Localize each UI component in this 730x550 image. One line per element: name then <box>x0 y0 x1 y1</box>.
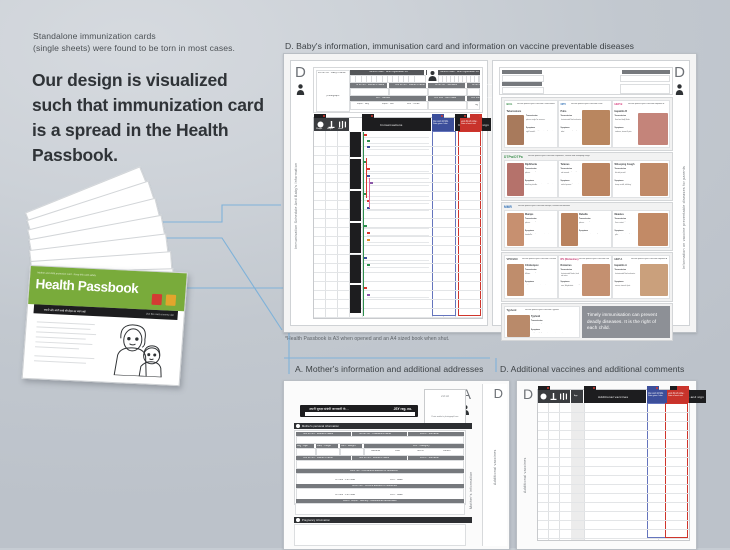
transmission-label: Transmission <box>579 218 591 220</box>
next-visit-header: अगले टीके की तारीख · Date of next visit <box>460 118 482 131</box>
table-row[interactable] <box>538 538 689 539</box>
table-row[interactable] <box>538 457 689 458</box>
page-marker-d-partial: D <box>494 387 503 400</box>
mother-information-panel: A Mother's information D Additional vacc… <box>283 380 510 550</box>
birth-date-label: जन्म तिथि · Birth date <box>434 97 456 100</box>
field-label-identity: आधार / मतदाता · Identity / Institutional… <box>343 500 397 503</box>
cover-text-line <box>36 326 90 330</box>
vaccine-note-hepa: vaccine protects your child from Hepatit… <box>631 258 667 260</box>
symptoms-label: Symptoms <box>615 281 624 283</box>
field-label-age: आयु · Age <box>297 445 308 448</box>
birth-registration-label: पंजीकरण संख्या · Birth registration no. <box>369 71 408 74</box>
table-row[interactable] <box>314 236 482 237</box>
transmission-label: Transmission <box>615 269 627 271</box>
disease-name-chickenpox: Chickenpox <box>525 264 539 267</box>
gender-option-other[interactable]: अन्य · Other <box>407 103 420 106</box>
mother-and-child-illustration <box>104 321 174 378</box>
mother-panel-next-label: Additional vaccines <box>493 415 497 485</box>
surname2-label: घर का नाम · Surname <box>472 84 494 87</box>
age-group-block <box>350 159 361 189</box>
transmission-text: Spreads through contaminated food and wa… <box>561 118 582 125</box>
symptoms-text: High fever, rash, cough, red eyes. <box>615 233 635 242</box>
vaccine-card-hepb: HEP B vaccine protects your child from H… <box>612 100 670 148</box>
right-page-vertical-label: Information on vaccine preventable disea… <box>682 99 686 269</box>
vaccine-card-typhoid: Typhoid vaccine protects your child from… <box>504 306 580 338</box>
vaccine-code-dtp: DTPw/DTPa <box>504 155 523 159</box>
table-row[interactable] <box>538 484 689 485</box>
additional-vaccines-panel: D Additional vaccines Age Additional vac… <box>516 380 697 550</box>
baby-name-field[interactable] <box>316 70 350 112</box>
disease-name-mumps: Mumps <box>525 213 533 216</box>
section-header-personal: Mother's personal information <box>294 423 472 429</box>
caption-additional-panel: D. Additional vaccines and additional co… <box>500 364 684 374</box>
vaccine-entry[interactable] <box>367 174 429 179</box>
category-option-scst[interactable]: SC/ST <box>417 450 424 453</box>
disease-name-tetanus: Tetanus <box>561 163 570 166</box>
additional-vaccines-header-label: Additional vaccines <box>598 395 628 399</box>
vaccine-code-rv: RV (Rotavirus) <box>561 258 579 261</box>
table-row[interactable] <box>314 308 482 309</box>
name-band-input[interactable] <box>305 412 415 416</box>
transmission-text: Spreads through air and close contact. <box>615 221 635 228</box>
section-tab-flag <box>314 114 326 118</box>
disease-photo <box>582 163 610 196</box>
symptoms-label: Symptoms <box>531 329 540 331</box>
field-input[interactable] <box>296 436 464 444</box>
vaccine-note-opv: vaccine protects your child from Polio <box>571 103 609 105</box>
immunisation-schedule-table: Weight Height Head Immunisations टीका लग… <box>313 117 483 319</box>
transmission-label: Transmission <box>561 269 573 271</box>
section-header-pregnancy: Pregnancy information <box>294 517 472 523</box>
field-label-father-name: पिता का नाम · Father's name <box>303 457 333 460</box>
section-tab-flag <box>362 114 374 118</box>
symptoms-text: Sore throat, weakness, swollen glands, b… <box>525 183 555 192</box>
vaccine-entry[interactable] <box>364 192 429 197</box>
page-marker-d-additional: D <box>523 387 533 401</box>
mother-name-band-en: JSY reg. no. <box>394 407 412 411</box>
weight-icon <box>317 121 324 128</box>
top-form-header <box>622 70 670 74</box>
logo-health-ministry-icon <box>165 294 176 305</box>
table-row[interactable] <box>538 529 689 530</box>
transmission-label: Transmission <box>531 320 543 322</box>
pin-label-2: पिन कोड · Pin code <box>335 494 355 497</box>
immunisations-header: Immunisations <box>362 118 431 131</box>
table-row[interactable] <box>538 475 689 476</box>
head-column-label: Head <box>338 128 343 130</box>
vaccine-card-tetanus: Tetanus Transmission Enters the body thr… <box>558 160 612 198</box>
date-given-header: टीका लगाने की तिथि · Date given / due <box>647 390 669 403</box>
surname-label: घर का नाम · Surname <box>435 84 457 87</box>
additional-panel-vertical-label: Additional vaccines <box>523 413 527 493</box>
field-label-category: श्रेणी · Category <box>413 445 430 448</box>
state-label: राज्य · State <box>390 479 403 482</box>
top-form-header <box>502 70 542 74</box>
vaccine-card-rotavirus: RV (Rotavirus) vaccine protects your chi… <box>558 255 612 299</box>
field-label-mother-name-2: माता का नाम · Mother's name <box>359 457 389 460</box>
mother-name-band: अपनी सुरक्षा संबंधी जानकारी के ... JSY r… <box>300 405 418 417</box>
category-option-others[interactable]: Others <box>443 450 451 453</box>
intro-subtext-line2: (single sheets) were found to be torn in… <box>33 43 278 55</box>
transmission-label: Transmission <box>525 269 537 271</box>
transmission-text: Spreads through saliva of an infected pe… <box>525 221 555 228</box>
age-column-header: Age <box>571 390 583 403</box>
vaccine-card-measles: Measles Transmission Spreads through air… <box>612 210 670 248</box>
disease-photo <box>582 110 610 145</box>
top-form-field[interactable] <box>620 84 670 94</box>
vaccine-entry[interactable] <box>364 133 429 138</box>
table-row[interactable] <box>314 281 482 282</box>
symptoms-label: Symptoms <box>561 281 570 283</box>
transmission-label: Transmission <box>561 168 573 170</box>
transmission-text: Enters the body through cuts and wounds. <box>561 171 582 178</box>
vaccine-code-hepb: HEP B <box>615 103 623 106</box>
section-tab-flag <box>470 114 482 118</box>
section-tab-flag <box>647 386 659 390</box>
book-cover: Mother and child protection card · Keep … <box>22 265 188 386</box>
vaccine-card-rubella: Rubella Transmission Spreads through air… <box>558 210 612 248</box>
vaccine-entry[interactable] <box>364 286 429 291</box>
category-option-obc[interactable]: OBC <box>395 450 400 453</box>
pregnancy-form-area[interactable] <box>294 524 466 546</box>
symptoms-label: Symptoms <box>561 180 570 182</box>
surname-input[interactable] <box>428 88 467 96</box>
field-label-height: लंबाई · Height <box>317 445 331 448</box>
transmission-text: Spreads through air and contact with bli… <box>525 272 555 279</box>
field-label-weight: वजन · Weight <box>341 445 356 448</box>
transmission-label: Transmission <box>526 115 538 117</box>
vaccine-code-hepa: HEP A <box>615 258 623 261</box>
transmission-label: Transmission <box>615 218 627 220</box>
age-group-block <box>350 223 361 253</box>
head-circumference-icon <box>339 121 346 128</box>
disease-name-hepatitis-b: Hepatitis B <box>615 110 628 113</box>
birth-weight-unit: kg <box>475 104 478 107</box>
intro-subtext-line1: Standalone immunization cards <box>33 31 278 43</box>
section-tab-flag <box>677 386 689 390</box>
cover-text-line <box>37 321 95 325</box>
additional-vaccines-header: Additional vaccines <box>584 390 646 403</box>
cover-text-line <box>34 360 86 363</box>
caption-top-spread: D. Baby's information, immunisation card… <box>285 41 634 51</box>
transmission-label: Transmission <box>525 168 537 170</box>
symptoms-text: Rash, mild fever, swollen glands. <box>579 233 609 242</box>
disease-photo <box>507 264 524 296</box>
transmission-text: Spreads through air from an infected per… <box>579 221 609 228</box>
disease-name-measles: Measles <box>615 213 624 216</box>
mother-photo-hint-hi: माँ की फोटो <box>425 396 465 399</box>
next-visit-column[interactable] <box>665 403 688 538</box>
height-icon <box>328 121 335 128</box>
field-label-surname-2: उपनाम · Surname <box>420 457 439 460</box>
disease-photo <box>640 264 668 296</box>
section-bullet <box>296 518 300 522</box>
cover-text-line <box>35 346 79 349</box>
vaccine-entry[interactable] <box>364 224 429 229</box>
mother-name-input[interactable] <box>350 88 389 96</box>
top-form-field[interactable] <box>502 75 544 82</box>
field-label-surname: उपनाम · Surname <box>420 433 439 436</box>
transmission-text: Spreads through contaminated food and wa… <box>615 272 636 279</box>
symptoms-label: Symptoms <box>525 281 534 283</box>
transmission-text: Spreads through air from an infected per… <box>525 171 555 178</box>
transmission-text: Spreads through contaminated hands, food… <box>561 272 582 279</box>
date-given-header-label: टीका लगाने की तिथि · Date given / due <box>433 121 453 126</box>
section-tab-flag <box>538 386 550 390</box>
vaccine-entry[interactable] <box>370 181 429 186</box>
mother-personal-form: माता का नाम · Mother's name पति का नाम ·… <box>294 430 466 505</box>
field-label-permanent-address: स्थायी पता · Permanent address of reside… <box>350 470 398 473</box>
transmission-label: Transmission <box>615 115 627 117</box>
vaccine-note-vpo: vaccine protects your child from Chicken… <box>522 258 556 260</box>
next-visit-header-label: अगले टीके की तारीख · Date of next visit <box>668 393 688 398</box>
field-input-age[interactable] <box>296 448 316 456</box>
vaccine-group-row: VPO/VAC vaccine protects your child from… <box>501 252 673 302</box>
vaccine-code-vpo: VPO/VAC <box>507 258 518 261</box>
table-row[interactable] <box>538 448 689 449</box>
section-tab-flag <box>584 386 596 390</box>
vaccine-note-bcg: vaccine protects your child from Tubercu… <box>517 103 555 105</box>
height-column-label: Height <box>327 128 333 130</box>
vaccine-entry[interactable] <box>367 238 429 243</box>
vaccine-note-rv: vaccine protects your child from Rotavir… <box>579 258 609 260</box>
gender-option-girl[interactable]: लड़की · Girl <box>382 103 394 106</box>
vaccine-entry[interactable] <box>367 206 429 211</box>
gender-option-boy[interactable]: लड़का · Boy <box>357 103 369 106</box>
right-page-top-form <box>499 67 673 95</box>
symptoms-label: Symptoms <box>615 230 624 232</box>
table-row[interactable] <box>538 439 689 440</box>
disease-photo <box>507 315 530 337</box>
disease-name-polio: Polio <box>561 110 567 113</box>
vaccine-card-whooping-cough: Whooping Cough Transmission Spreads thro… <box>612 160 670 198</box>
mother-name-label: माँ का नाम · Mother's name <box>356 84 384 87</box>
disease-photo <box>638 213 668 246</box>
table-row[interactable] <box>538 430 689 431</box>
disease-photo <box>507 163 524 196</box>
vaccine-entry[interactable] <box>367 199 429 204</box>
vaccine-entry[interactable] <box>367 145 429 150</box>
field-label-husband-name: पति का नाम · Husband's name <box>359 433 391 436</box>
field-input-weight[interactable] <box>340 448 364 456</box>
photo-hint-text: photograph <box>320 95 346 98</box>
age-group-block <box>350 191 361 221</box>
symptoms-label: Symptoms <box>525 180 534 182</box>
vaccine-rail <box>363 132 364 316</box>
measurement-columns-header: Weight Height Head <box>314 118 349 131</box>
height-icon <box>550 393 557 400</box>
symptoms-text: Muscle stiffness, jaw lock, painful spas… <box>561 183 582 192</box>
table-row[interactable] <box>314 254 482 255</box>
symptoms-label: Symptoms <box>526 127 535 129</box>
logo-government-icon <box>151 294 162 305</box>
table-row[interactable] <box>314 317 482 318</box>
head-circumference-icon <box>560 393 567 400</box>
next-visit-header: अगले टीके की तारीख · Date of next visit <box>667 390 689 403</box>
symptoms-text: Severe coughing spells, whoop sound, vom… <box>615 183 636 192</box>
birth-weight-input[interactable] <box>467 101 480 110</box>
cover-body <box>29 315 177 380</box>
vaccine-entry[interactable] <box>367 263 429 268</box>
table-row[interactable] <box>538 412 689 413</box>
vaccine-preventable-diseases: BCG vaccine protects your child from Tub… <box>501 97 673 319</box>
table-row[interactable] <box>538 511 689 512</box>
cover-text-line <box>34 355 94 359</box>
table-row[interactable] <box>314 299 482 300</box>
transmission-text: Spreads through infected blood and body … <box>615 118 636 125</box>
vaccine-code-opv: OPV <box>561 103 566 106</box>
vaccine-entry[interactable] <box>367 139 429 144</box>
vaccine-note-hepb: vaccine protects your child from Hepatit… <box>628 103 668 105</box>
disease-photo <box>640 163 668 196</box>
top-form-header <box>502 82 542 86</box>
disease-photo <box>582 264 610 296</box>
category-option-general[interactable]: General <box>371 450 380 453</box>
spread-left-page: D Immunisation Schedule And Baby's Infor… <box>290 60 488 326</box>
father-name-input[interactable] <box>389 88 428 96</box>
vaccine-group-typhoid: Typhoid vaccine protects your child from… <box>501 303 673 341</box>
vaccine-code-bcg: BCG <box>507 103 513 106</box>
vaccine-entry[interactable] <box>367 293 429 298</box>
disease-name-typhoid: Typhoid <box>531 315 540 318</box>
birth-date-input[interactable] <box>428 101 467 110</box>
table-row[interactable] <box>314 218 482 219</box>
vaccine-entry[interactable] <box>367 231 429 236</box>
state-label-2: राज्य · State <box>390 494 403 497</box>
symptoms-label: Symptoms <box>561 127 570 129</box>
weight-icon <box>540 393 547 400</box>
disease-name-diphtheria: Diphtheria <box>525 163 537 166</box>
symptoms-label: Symptoms <box>579 230 588 232</box>
symptoms-text: Itchy rash with blisters, fever, tiredne… <box>525 284 555 293</box>
intro-headline: Our design is visualized such that immun… <box>32 68 272 168</box>
vaccine-card-diphtheria: Diphtheria Transmission Spreads through … <box>504 160 558 198</box>
symptoms-text: Watery diarrhoea, vomiting, fever, dehyd… <box>561 284 582 293</box>
table-row[interactable] <box>538 466 689 467</box>
surname2-input[interactable] <box>467 88 480 96</box>
table-row[interactable] <box>314 272 482 273</box>
top-form-field[interactable] <box>502 87 544 94</box>
table-row[interactable] <box>538 421 689 422</box>
mother-name-band-hi: अपनी सुरक्षा संबंधी जानकारी के ... <box>309 407 349 411</box>
vaccine-rail <box>366 158 367 198</box>
section-title-personal: Mother's personal information <box>302 425 339 428</box>
section-title-pregnancy: Pregnancy information <box>302 519 330 522</box>
transmission-text: Spreads through contaminated food and wa… <box>531 323 576 328</box>
vaccine-entry[interactable] <box>364 256 429 261</box>
symptoms-label: Symptoms <box>525 230 534 232</box>
spread-right-page: D Information on vaccine preventable dis… <box>492 60 690 326</box>
vaccine-code-mmr: MMR <box>504 205 512 209</box>
field-input-identity[interactable] <box>295 503 465 515</box>
health-passbook-book: Mother and child protection card · Keep … <box>28 205 213 380</box>
cover-text-line <box>36 331 96 335</box>
table-row[interactable] <box>538 502 689 503</box>
cover-text-line <box>36 336 86 339</box>
table-row[interactable] <box>538 493 689 494</box>
vaccine-card-opv: OPV vaccine protects your child from Pol… <box>558 100 612 148</box>
pin-label: पिन कोड · Pin code <box>335 479 355 482</box>
age-group-block <box>350 132 361 157</box>
left-page-vertical-label: Immunisation Schedule And Baby's Informa… <box>294 99 298 249</box>
gender-label: लिंग · Gender <box>376 97 390 100</box>
next-visit-column[interactable] <box>458 131 481 316</box>
top-form-field[interactable] <box>620 75 670 82</box>
immunisation-message-text: Timely immunisation can prevent deadly d… <box>582 312 670 332</box>
transmission-label: Transmission <box>525 218 537 220</box>
date-given-column[interactable] <box>432 131 456 316</box>
vaccine-rail <box>369 178 370 208</box>
caption-footnote: *Health Passbook is A3 when opened and a… <box>285 336 449 342</box>
parent-icon <box>675 84 684 95</box>
transmission-text: Spreads through air from an infected per… <box>615 171 636 178</box>
vaccine-group-dtp: DTPw/DTPa vaccine protects your child fr… <box>501 152 673 201</box>
child-avatar-icon <box>427 70 438 81</box>
table-row[interactable] <box>314 245 482 246</box>
weight-column-label: Weight <box>316 128 322 130</box>
transmission-text: Spreads through air when an infected per… <box>526 118 555 125</box>
disease-photo <box>507 115 524 145</box>
vaccine-card-hepa: HEP A vaccine protects your child from H… <box>612 255 670 299</box>
immunisations-header-label: Immunisations <box>380 123 403 127</box>
table-row[interactable] <box>314 155 482 156</box>
slide-background: Standalone immunization cards (single sh… <box>0 0 730 548</box>
birth-registration-input[interactable] <box>350 75 426 83</box>
table-row[interactable] <box>538 520 689 521</box>
field-input-height[interactable] <box>316 448 340 456</box>
birth-registration-no-input[interactable] <box>438 75 480 83</box>
age-column-label: Age <box>574 395 578 397</box>
measurement-columns-header <box>538 390 570 403</box>
baby-information-form: बच्चे का नाम · Baby's name photograph पं… <box>313 67 483 113</box>
vaccine-code-typhoid: Typhoid <box>507 309 517 312</box>
disease-name-rotavirus: Rotavirus <box>561 264 572 267</box>
transmission-label: Transmission <box>615 168 627 170</box>
vaccine-group-mmr: MMR vaccine protects your child from Mum… <box>501 202 673 251</box>
vaccine-card-chickenpox: VPO/VAC vaccine protects your child from… <box>504 255 558 299</box>
vaccine-entry[interactable] <box>364 160 429 165</box>
field-label-current-address: वर्तमान पता · Current address of residen… <box>352 485 397 488</box>
disease-photo <box>561 213 578 246</box>
date-given-header: टीका लगाने की तिथि · Date given / due <box>432 118 454 131</box>
symptoms-text: Long lasting high fever, weakness, stoma… <box>531 332 576 338</box>
mother-panel-vertical-label: Mother's information <box>469 419 473 509</box>
page-marker-d-right: D <box>674 65 685 80</box>
cover-text-line <box>35 341 92 345</box>
mother-photo-hint-en: Paste mother's photograph here <box>425 416 465 419</box>
intro-subtext: Standalone immunization cards (single sh… <box>33 31 278 54</box>
baby-name-label: बच्चे का नाम · Baby's name <box>318 72 347 75</box>
disease-name-rubella: Rubella <box>579 213 588 216</box>
disease-name-hepatitis-a: Hepatitis A <box>615 264 627 267</box>
caption-mother-panel: A. Mother's information and additional a… <box>295 364 483 374</box>
field-input[interactable] <box>296 460 464 469</box>
page-marker-d-left: D <box>295 65 306 80</box>
field-label-mother-name: माता का नाम · Mother's name <box>303 433 333 436</box>
age-group-block <box>350 285 361 313</box>
section-tab-flag <box>432 114 444 118</box>
vaccine-group-row: BCG vaccine protects your child from Tub… <box>501 97 673 151</box>
disease-name-tuberculosis: Tuberculosis <box>507 110 522 113</box>
symptoms-text: Swelling near jaw and ears, fever, heada… <box>525 233 555 242</box>
vaccine-entry[interactable] <box>367 167 429 172</box>
vaccine-note-mmr: vaccine protects your child from Mumps, … <box>518 205 638 207</box>
immunisation-message: Timely immunisation can prevent deadly d… <box>582 306 670 338</box>
transmission-label: Transmission <box>561 115 573 117</box>
symptoms-text: Long lasting cough, fever, weight loss, … <box>526 130 555 139</box>
age-group-block <box>350 255 361 283</box>
spread-panel: D Immunisation Schedule And Baby's Infor… <box>283 53 697 333</box>
